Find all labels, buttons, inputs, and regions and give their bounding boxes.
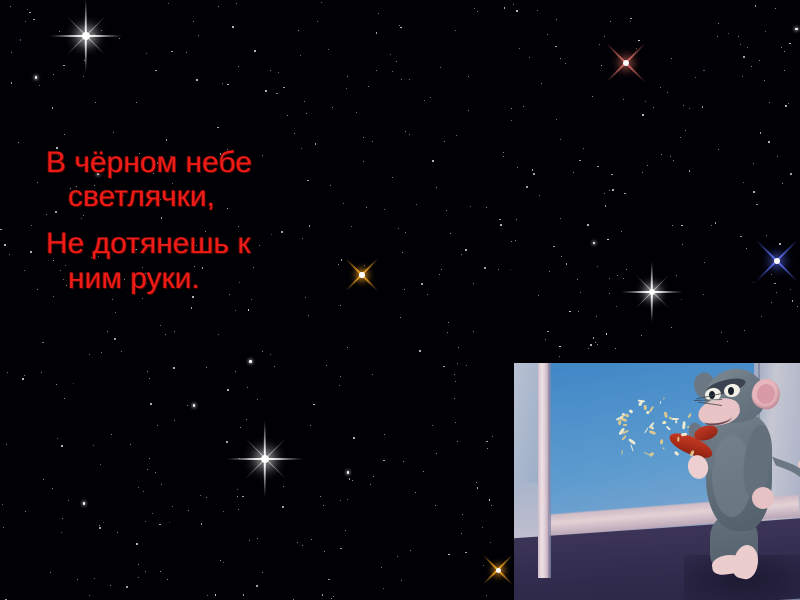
star-dot (458, 347, 459, 348)
sparkle-bottom-left-icon (226, 420, 304, 498)
star-dot (384, 209, 385, 210)
star-dot (465, 249, 467, 251)
star-dot (168, 3, 169, 4)
star-dot (457, 441, 458, 442)
star-dot (25, 21, 26, 22)
star-dot (561, 256, 562, 257)
star-dot (604, 193, 605, 194)
star-dot (315, 143, 316, 144)
star-dot (192, 296, 194, 298)
star-dot (6, 444, 7, 445)
star-dot (765, 31, 766, 32)
sparkle-ray (606, 43, 647, 84)
star-dot (715, 222, 716, 223)
star-dot (237, 489, 238, 490)
star-dot (24, 270, 25, 271)
star-dot (781, 47, 782, 48)
star-dot (511, 241, 512, 242)
star-dot (142, 298, 143, 299)
sparkle-core (774, 258, 781, 265)
tom-hand (752, 487, 774, 509)
star-dot (270, 354, 271, 355)
star-dot (738, 36, 739, 37)
star-dot (490, 542, 491, 543)
sparkle-ray (49, 35, 123, 37)
star-dot (136, 102, 137, 103)
star-dot (566, 263, 567, 264)
cartoon-character-tom (682, 369, 800, 594)
star-dot (779, 243, 781, 245)
star-dot (404, 289, 405, 290)
sparkle-ray (226, 458, 304, 460)
star-dot (152, 513, 153, 514)
star-dot (539, 195, 540, 196)
sparkle-ray (243, 437, 287, 481)
star-dot (159, 524, 160, 525)
star-dot (642, 114, 644, 116)
star-dot (672, 225, 673, 226)
star-dot (717, 36, 718, 37)
star-dot (441, 269, 442, 270)
star-dot (435, 505, 436, 506)
star-dot (103, 522, 104, 523)
star-dot (746, 248, 747, 249)
star-dot (347, 499, 348, 500)
star-dot (500, 224, 502, 226)
star-dot (160, 325, 161, 326)
star-dot (27, 9, 28, 10)
star-dot (612, 189, 614, 191)
star-dot (621, 231, 622, 232)
star-dot (378, 13, 379, 14)
star-dot (740, 236, 741, 237)
cartoon-image (514, 363, 800, 600)
star-dot (400, 317, 401, 318)
star-dot (468, 76, 469, 77)
star-dot (473, 331, 474, 332)
star-dot (785, 105, 786, 106)
star-dot (53, 296, 54, 297)
star-dot (771, 302, 772, 303)
star-dot (498, 269, 499, 270)
star-dot (721, 332, 722, 333)
star-dot (455, 422, 456, 423)
star-dot (321, 2, 322, 3)
star-dot (356, 112, 357, 113)
star-dot (541, 83, 542, 84)
star-dot (396, 61, 397, 62)
star-dot (764, 80, 765, 81)
star-dot (0, 229, 1, 230)
star-dot (68, 500, 69, 501)
star-dot (547, 34, 548, 35)
star-dot (235, 310, 236, 311)
star-dot (609, 293, 610, 294)
sparkle-ray (483, 555, 514, 586)
star-dot (448, 554, 450, 556)
star-dot (282, 506, 283, 507)
star-dot (421, 283, 422, 284)
sparkle-top-left-icon (49, 0, 123, 73)
star-dot (172, 506, 173, 507)
sparkle-ray (483, 555, 514, 586)
star-dot (352, 480, 353, 481)
star-dot (18, 142, 19, 143)
star-dot (611, 174, 612, 175)
poem-line: В чёрном небе (46, 146, 376, 180)
star-dot (771, 274, 772, 275)
star-dot (579, 160, 580, 161)
star-dot (349, 478, 350, 479)
star-dot (265, 90, 267, 92)
star-dot (511, 108, 512, 109)
star-dot (218, 6, 219, 7)
star-dot (3, 527, 4, 528)
star-dot (744, 330, 745, 331)
star-dot (555, 46, 556, 47)
star-dot (41, 372, 42, 373)
presentation-slide: В чёрном небе светлячки, Не дотянешь к н… (0, 0, 800, 600)
star-dot (682, 244, 683, 245)
star-dot (556, 119, 557, 120)
star-dot (532, 169, 533, 170)
star-dot (560, 58, 561, 59)
star-dot (401, 79, 402, 80)
star-dot (676, 275, 677, 276)
star-dot (93, 445, 94, 446)
star-dot (247, 387, 248, 388)
star-dot (503, 152, 504, 153)
star-dot (101, 352, 102, 353)
star-dot (10, 6, 11, 7)
star-dot (638, 40, 640, 42)
star-dot (405, 232, 406, 233)
star-dot (77, 579, 78, 580)
poem-line: ним руки. (46, 262, 376, 296)
star-dot (277, 93, 278, 94)
star-dot (617, 275, 618, 276)
star-dot (626, 269, 627, 270)
star-dot (400, 27, 402, 29)
star-dot (399, 25, 400, 26)
star-dot (215, 594, 217, 596)
star-dot (440, 67, 441, 68)
star-dot (747, 47, 748, 48)
star-dot (64, 134, 65, 135)
sparkle-ray (85, 0, 87, 73)
star-dot (83, 502, 86, 505)
star-dot (262, 572, 263, 573)
star-dot (516, 10, 518, 12)
sparkle-core (261, 455, 270, 464)
star-dot (727, 341, 728, 342)
star-dot (331, 598, 332, 599)
star-dot (278, 72, 279, 73)
star-dot (743, 182, 744, 183)
poem-stanza: Не дотянешь к ним руки. (46, 227, 376, 295)
star-dot (503, 156, 504, 157)
star-dot (193, 21, 194, 22)
star-dot (320, 496, 321, 497)
star-dot (145, 521, 146, 522)
star-dot (593, 242, 596, 245)
star-dot (392, 177, 393, 178)
star-dot (193, 404, 196, 407)
star-dot (138, 577, 139, 578)
sparkle-blue-right-icon (747, 231, 800, 291)
star-dot (728, 33, 729, 34)
star-dot (384, 434, 385, 435)
star-dot (477, 487, 478, 488)
star-dot (155, 70, 156, 71)
star-dot (491, 505, 492, 506)
star-dot (610, 21, 611, 22)
star-dot (590, 344, 592, 346)
star-dot (9, 254, 10, 255)
star-dot (486, 441, 487, 442)
star-dot (249, 540, 250, 541)
star-dot (174, 420, 175, 421)
star-dot (308, 315, 309, 316)
star-dot (147, 469, 148, 470)
star-dot (155, 472, 156, 473)
star-dot (227, 389, 229, 391)
star-dot (52, 488, 53, 489)
star-dot (383, 588, 384, 589)
star-dot (50, 572, 51, 573)
star-dot (432, 425, 433, 426)
star-dot (30, 251, 32, 253)
star-dot (283, 486, 284, 487)
star-dot (242, 496, 243, 497)
star-dot (680, 137, 681, 138)
star-dot (529, 57, 530, 58)
star-dot (580, 292, 581, 293)
star-dot (515, 240, 516, 241)
star-dot (416, 204, 417, 205)
star-dot (597, 266, 598, 267)
star-dot (160, 571, 161, 572)
star-dot (454, 374, 455, 375)
star-dot (107, 331, 108, 332)
star-dot (597, 344, 598, 345)
star-dot (513, 4, 514, 5)
star-dot (685, 130, 686, 131)
cartoon-crumb (638, 399, 645, 402)
star-dot (470, 206, 471, 207)
star-dot (332, 107, 333, 108)
star-dot (797, 306, 798, 307)
star-dot (187, 405, 188, 406)
star-dot (99, 527, 100, 528)
star-dot (560, 139, 561, 140)
poem-line: светлячки, (46, 180, 376, 214)
star-dot (22, 378, 24, 380)
star-dot (615, 348, 616, 349)
star-dot (339, 385, 340, 386)
star-dot (398, 228, 399, 229)
star-dot (605, 205, 606, 206)
star-dot (313, 404, 315, 406)
star-dot (381, 567, 382, 568)
star-dot (61, 532, 62, 533)
star-dot (347, 471, 350, 474)
star-dot (647, 165, 648, 166)
star-dot (59, 31, 60, 32)
star-dot (340, 548, 341, 549)
star-dot (448, 322, 449, 323)
star-dot (29, 12, 30, 13)
star-dot (111, 434, 112, 435)
star-dot (461, 533, 462, 534)
sparkle-mid-right-icon (621, 261, 683, 323)
star-dot (492, 436, 493, 437)
star-dot (390, 54, 391, 55)
star-dot (599, 44, 600, 45)
star-dot (35, 76, 38, 79)
star-dot (565, 63, 566, 64)
star-dot (52, 107, 53, 108)
star-dot (121, 351, 122, 352)
star-dot (768, 141, 770, 143)
cartoon-door-column-edge (548, 363, 551, 578)
star-dot (100, 464, 101, 465)
star-dot (94, 34, 95, 35)
star-dot (462, 514, 463, 515)
star-dot (596, 316, 597, 317)
poem-stanza: В чёрном небе светлячки, (46, 146, 376, 214)
star-dot (206, 367, 207, 368)
sparkle-core (82, 32, 90, 40)
star-dot (403, 461, 404, 462)
star-dot (297, 542, 298, 543)
star-dot (146, 53, 147, 54)
star-dot (703, 294, 704, 295)
star-dot (37, 289, 38, 290)
star-dot (645, 101, 646, 102)
star-dot (753, 282, 754, 283)
star-dot (149, 378, 150, 379)
star-dot (43, 342, 44, 343)
star-dot (436, 453, 437, 454)
star-dot (61, 445, 63, 447)
star-dot (545, 339, 546, 340)
star-dot (766, 235, 767, 236)
star-dot (94, 578, 95, 579)
star-dot (760, 132, 761, 133)
star-dot (223, 511, 224, 512)
star-dot (157, 425, 158, 426)
star-dot (482, 527, 483, 528)
sparkle-ray (755, 239, 799, 283)
tom-pupil-right (728, 387, 734, 395)
star-dot (57, 438, 58, 439)
sparkle-ray (651, 261, 653, 323)
star-dot (455, 30, 456, 31)
star-dot (62, 518, 63, 519)
star-dot (397, 556, 398, 557)
star-dot (324, 551, 325, 552)
star-dot (593, 337, 594, 338)
star-dot (616, 306, 617, 307)
star-dot (484, 267, 485, 268)
star-dot (718, 23, 719, 24)
star-dot (83, 76, 84, 77)
star-dot (110, 585, 111, 586)
star-dot (504, 7, 505, 8)
star-dot (243, 594, 244, 595)
star-dot (347, 347, 348, 348)
star-dot (73, 383, 74, 384)
star-dot (476, 482, 477, 483)
star-dot (310, 425, 311, 426)
star-dot (254, 50, 256, 52)
star-dot (161, 484, 162, 485)
star-dot (573, 172, 574, 173)
star-dot (795, 28, 798, 31)
star-dot (630, 21, 631, 22)
star-dot (322, 594, 323, 595)
star-dot (115, 312, 116, 313)
star-dot (782, 183, 783, 184)
star-dot (486, 207, 487, 208)
sparkle-red-top-icon (598, 35, 654, 91)
star-dot (370, 484, 371, 485)
star-dot (439, 274, 440, 275)
star-dot (466, 365, 467, 366)
cartoon-crumb (675, 420, 677, 423)
star-dot (447, 332, 448, 333)
star-dot (587, 224, 589, 226)
star-dot (238, 509, 239, 510)
star-dot (345, 530, 346, 531)
sparkle-ray (243, 437, 287, 481)
sparkle-ray (755, 239, 799, 283)
star-dot (257, 538, 258, 539)
star-dot (283, 87, 284, 88)
star-dot (340, 305, 341, 306)
star-dot (473, 283, 474, 284)
star-dot (302, 545, 303, 546)
star-dot (623, 99, 624, 100)
star-dot (636, 48, 637, 49)
star-dot (517, 167, 518, 168)
star-dot (200, 495, 201, 496)
star-dot (419, 350, 421, 352)
star-dot (777, 156, 778, 157)
star-dot (661, 154, 662, 155)
star-dot (526, 186, 527, 187)
star-dot (450, 233, 451, 234)
star-dot (232, 26, 234, 28)
star-dot (24, 375, 25, 376)
star-dot (270, 70, 271, 71)
star-dot (401, 580, 402, 581)
star-dot (31, 225, 32, 226)
star-dot (95, 102, 96, 103)
star-dot (119, 38, 120, 39)
sparkle-ray (65, 15, 107, 57)
star-dot (549, 271, 550, 272)
star-dot (704, 262, 705, 263)
star-dot (415, 492, 416, 493)
star-dot (477, 11, 478, 12)
star-dot (465, 552, 466, 553)
star-dot (660, 87, 661, 88)
star-dot (251, 299, 252, 300)
star-dot (84, 60, 85, 61)
star-dot (373, 476, 374, 477)
